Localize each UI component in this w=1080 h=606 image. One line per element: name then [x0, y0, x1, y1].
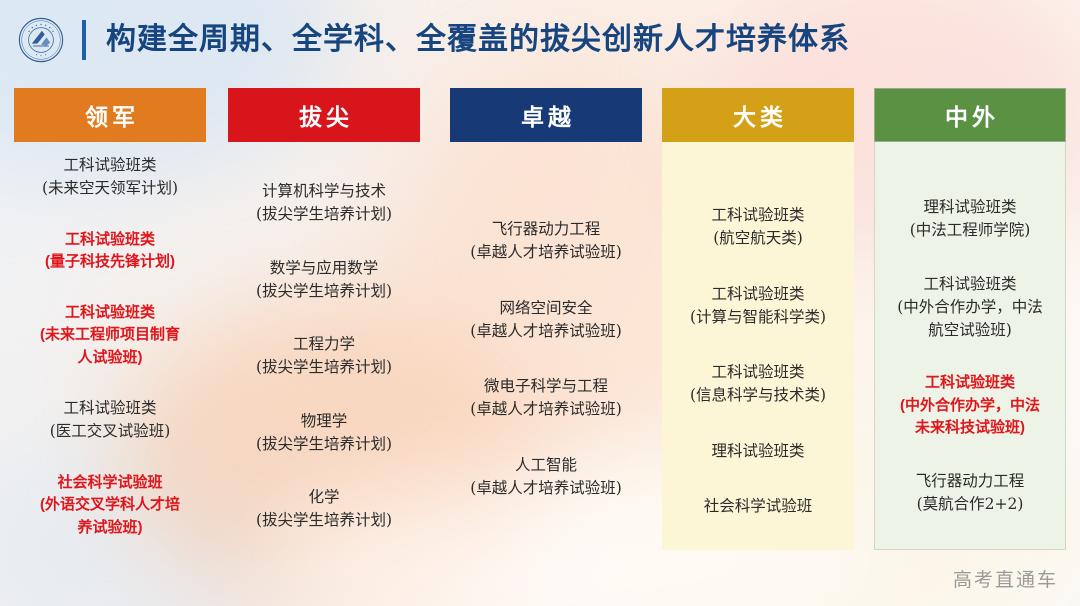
program-entry-line: 工科试验班类 [880, 273, 1060, 296]
program-entry-line: (莫航合作2+2) [880, 493, 1060, 516]
column-body-lingjun: 工科试验班类(未来空天领军计划)工科试验班类(量子科技先锋计划)工科试验班类(未… [14, 142, 206, 539]
program-entry: 工程力学(拔尖学生培养计划) [234, 333, 414, 380]
program-entry-line: 工科试验班类 [20, 229, 200, 252]
column-header-zhuoyue[interactable]: 卓越 [450, 88, 642, 142]
university-emblem-icon [18, 17, 64, 63]
program-entry: 人工智能(卓越人才培养试验班) [456, 454, 636, 501]
program-entry-line: (中外合作办学，中法 [880, 296, 1060, 319]
program-entry-line: (拔尖学生培养计划) [234, 203, 414, 226]
program-entry-line: 飞行器动力工程 [456, 218, 636, 241]
program-entry-line: (拔尖学生培养计划) [234, 280, 414, 303]
program-entry-line: (卓越人才培养试验班) [456, 320, 636, 343]
column-zhuoyue: 卓越飞行器动力工程(卓越人才培养试验班)网络空间安全(卓越人才培养试验班)微电子… [450, 88, 642, 550]
program-entry: 工科试验班类(量子科技先锋计划) [20, 229, 200, 274]
program-entry-line: (量子科技先锋计划) [20, 251, 200, 274]
program-entry-line: (卓越人才培养试验班) [456, 477, 636, 500]
column-header-label: 大类 [729, 98, 787, 132]
column-body-zhuoyue: 飞行器动力工程(卓越人才培养试验班)网络空间安全(卓越人才培养试验班)微电子科学… [450, 142, 642, 500]
program-entry: 工科试验班类(未来工程师项目制育人试验班) [20, 302, 200, 370]
program-entry-line: 人工智能 [456, 454, 636, 477]
program-entry-line: 工科试验班类 [880, 372, 1060, 395]
program-entry: 化学(拔尖学生培养计划) [234, 486, 414, 533]
program-entry-line: 工科试验班类 [20, 302, 200, 325]
program-entry-line: (拔尖学生培养计划) [234, 356, 414, 379]
program-entry-line: 工科试验班类 [668, 283, 848, 306]
program-entry-line: 物理学 [234, 410, 414, 433]
program-entry: 工科试验班类(未来空天领军计划) [20, 154, 200, 201]
column-lingjun: 领军工科试验班类(未来空天领军计划)工科试验班类(量子科技先锋计划)工科试验班类… [14, 88, 206, 550]
column-header-label: 拔尖 [295, 98, 353, 132]
program-entry-line: 数学与应用数学 [234, 257, 414, 280]
column-body-zhongwai: 理科试验班类(中法工程师学院)工科试验班类(中外合作办学，中法航空试验班)工科试… [874, 142, 1066, 516]
program-entry-line: (信息科学与技术类) [668, 384, 848, 407]
program-entry-line: (外语交叉学科人才培 [20, 494, 200, 517]
column-header-dalei[interactable]: 大类 [662, 88, 854, 142]
program-entry: 物理学(拔尖学生培养计划) [234, 410, 414, 457]
program-entry-line: 工程力学 [234, 333, 414, 356]
program-entry: 工科试验班类(计算与智能科学类) [668, 283, 848, 330]
program-entry-line: 工科试验班类 [20, 154, 200, 177]
program-entry-line: 微电子科学与工程 [456, 375, 636, 398]
program-entry: 计算机科学与技术(拔尖学生培养计划) [234, 180, 414, 227]
program-entry: 工科试验班类(航空航天类) [668, 204, 848, 251]
program-entry-line: (卓越人才培养试验班) [456, 398, 636, 421]
watermark-label: 高考直通车 [953, 565, 1058, 592]
program-entry-line: (拔尖学生培养计划) [234, 509, 414, 532]
program-entry: 社会科学试验班 [668, 495, 848, 518]
program-entry: 网络空间安全(卓越人才培养试验班) [456, 297, 636, 344]
slide-header: 构建全周期、全学科、全覆盖的拔尖创新人才培养体系 [0, 0, 1080, 80]
page-title: 构建全周期、全学科、全覆盖的拔尖创新人才培养体系 [106, 25, 850, 55]
program-entry-line: 计算机科学与技术 [234, 180, 414, 203]
column-header-bajian[interactable]: 拔尖 [228, 88, 420, 142]
program-entry-line: (中法工程师学院) [880, 219, 1060, 242]
program-entry-line: 工科试验班类 [668, 204, 848, 227]
column-dalei: 大类工科试验班类(航空航天类)工科试验班类(计算与智能科学类)工科试验班类(信息… [662, 88, 854, 550]
program-entry-line: (中外合作办学，中法 [880, 395, 1060, 418]
program-entry: 微电子科学与工程(卓越人才培养试验班) [456, 375, 636, 422]
column-header-zhongwai[interactable]: 中外 [874, 88, 1066, 142]
header-divider [82, 20, 86, 60]
program-entry-line: (计算与智能科学类) [668, 306, 848, 329]
track-columns: 领军工科试验班类(未来空天领军计划)工科试验班类(量子科技先锋计划)工科试验班类… [0, 88, 1080, 558]
column-body-dalei: 工科试验班类(航空航天类)工科试验班类(计算与智能科学类)工科试验班类(信息科学… [662, 142, 854, 518]
program-entry-line: 航空试验班) [880, 319, 1060, 342]
program-entry-line: 飞行器动力工程 [880, 470, 1060, 493]
program-entry: 工科试验班类(中外合作办学，中法未来科技试验班) [880, 372, 1060, 440]
program-entry-line: (航空航天类) [668, 227, 848, 250]
program-entry-line: 社会科学试验班 [668, 495, 848, 518]
program-entry-line: (未来工程师项目制育 [20, 324, 200, 347]
program-entry-line: 社会科学试验班 [20, 472, 200, 495]
program-entry-line: (拔尖学生培养计划) [234, 433, 414, 456]
program-entry: 理科试验班类 [668, 440, 848, 463]
program-entry: 社会科学试验班(外语交叉学科人才培养试验班) [20, 472, 200, 540]
program-entry-line: 化学 [234, 486, 414, 509]
program-entry: 理科试验班类(中法工程师学院) [880, 196, 1060, 243]
column-header-label: 中外 [941, 98, 999, 132]
column-bajian: 拔尖计算机科学与技术(拔尖学生培养计划)数学与应用数学(拔尖学生培养计划)工程力… [228, 88, 420, 550]
column-header-lingjun[interactable]: 领军 [14, 88, 206, 142]
slide-root: 构建全周期、全学科、全覆盖的拔尖创新人才培养体系 领军工科试验班类(未来空天领军… [0, 0, 1080, 606]
column-body-bajian: 计算机科学与技术(拔尖学生培养计划)数学与应用数学(拔尖学生培养计划)工程力学(… [228, 142, 420, 533]
program-entry-line: 工科试验班类 [20, 397, 200, 420]
program-entry-line: (医工交叉试验班) [20, 420, 200, 443]
program-entry: 工科试验班类(中外合作办学，中法航空试验班) [880, 273, 1060, 343]
program-entry-line: 工科试验班类 [668, 361, 848, 384]
program-entry: 工科试验班类(医工交叉试验班) [20, 397, 200, 444]
program-entry: 飞行器动力工程(卓越人才培养试验班) [456, 218, 636, 265]
program-entry-line: 理科试验班类 [668, 440, 848, 463]
program-entry-line: 理科试验班类 [880, 196, 1060, 219]
program-entry: 数学与应用数学(拔尖学生培养计划) [234, 257, 414, 304]
column-header-label: 领军 [81, 98, 139, 132]
program-entry-line: 未来科技试验班) [880, 417, 1060, 440]
program-entry-line: 网络空间安全 [456, 297, 636, 320]
column-header-label: 卓越 [517, 98, 575, 132]
program-entry-line: (卓越人才培养试验班) [456, 241, 636, 264]
column-zhongwai: 中外理科试验班类(中法工程师学院)工科试验班类(中外合作办学，中法航空试验班)工… [874, 88, 1066, 550]
program-entry: 工科试验班类(信息科学与技术类) [668, 361, 848, 408]
program-entry-line: 人试验班) [20, 347, 200, 370]
program-entry-line: 养试验班) [20, 517, 200, 540]
program-entry: 飞行器动力工程(莫航合作2+2) [880, 470, 1060, 517]
program-entry-line: (未来空天领军计划) [20, 177, 200, 200]
